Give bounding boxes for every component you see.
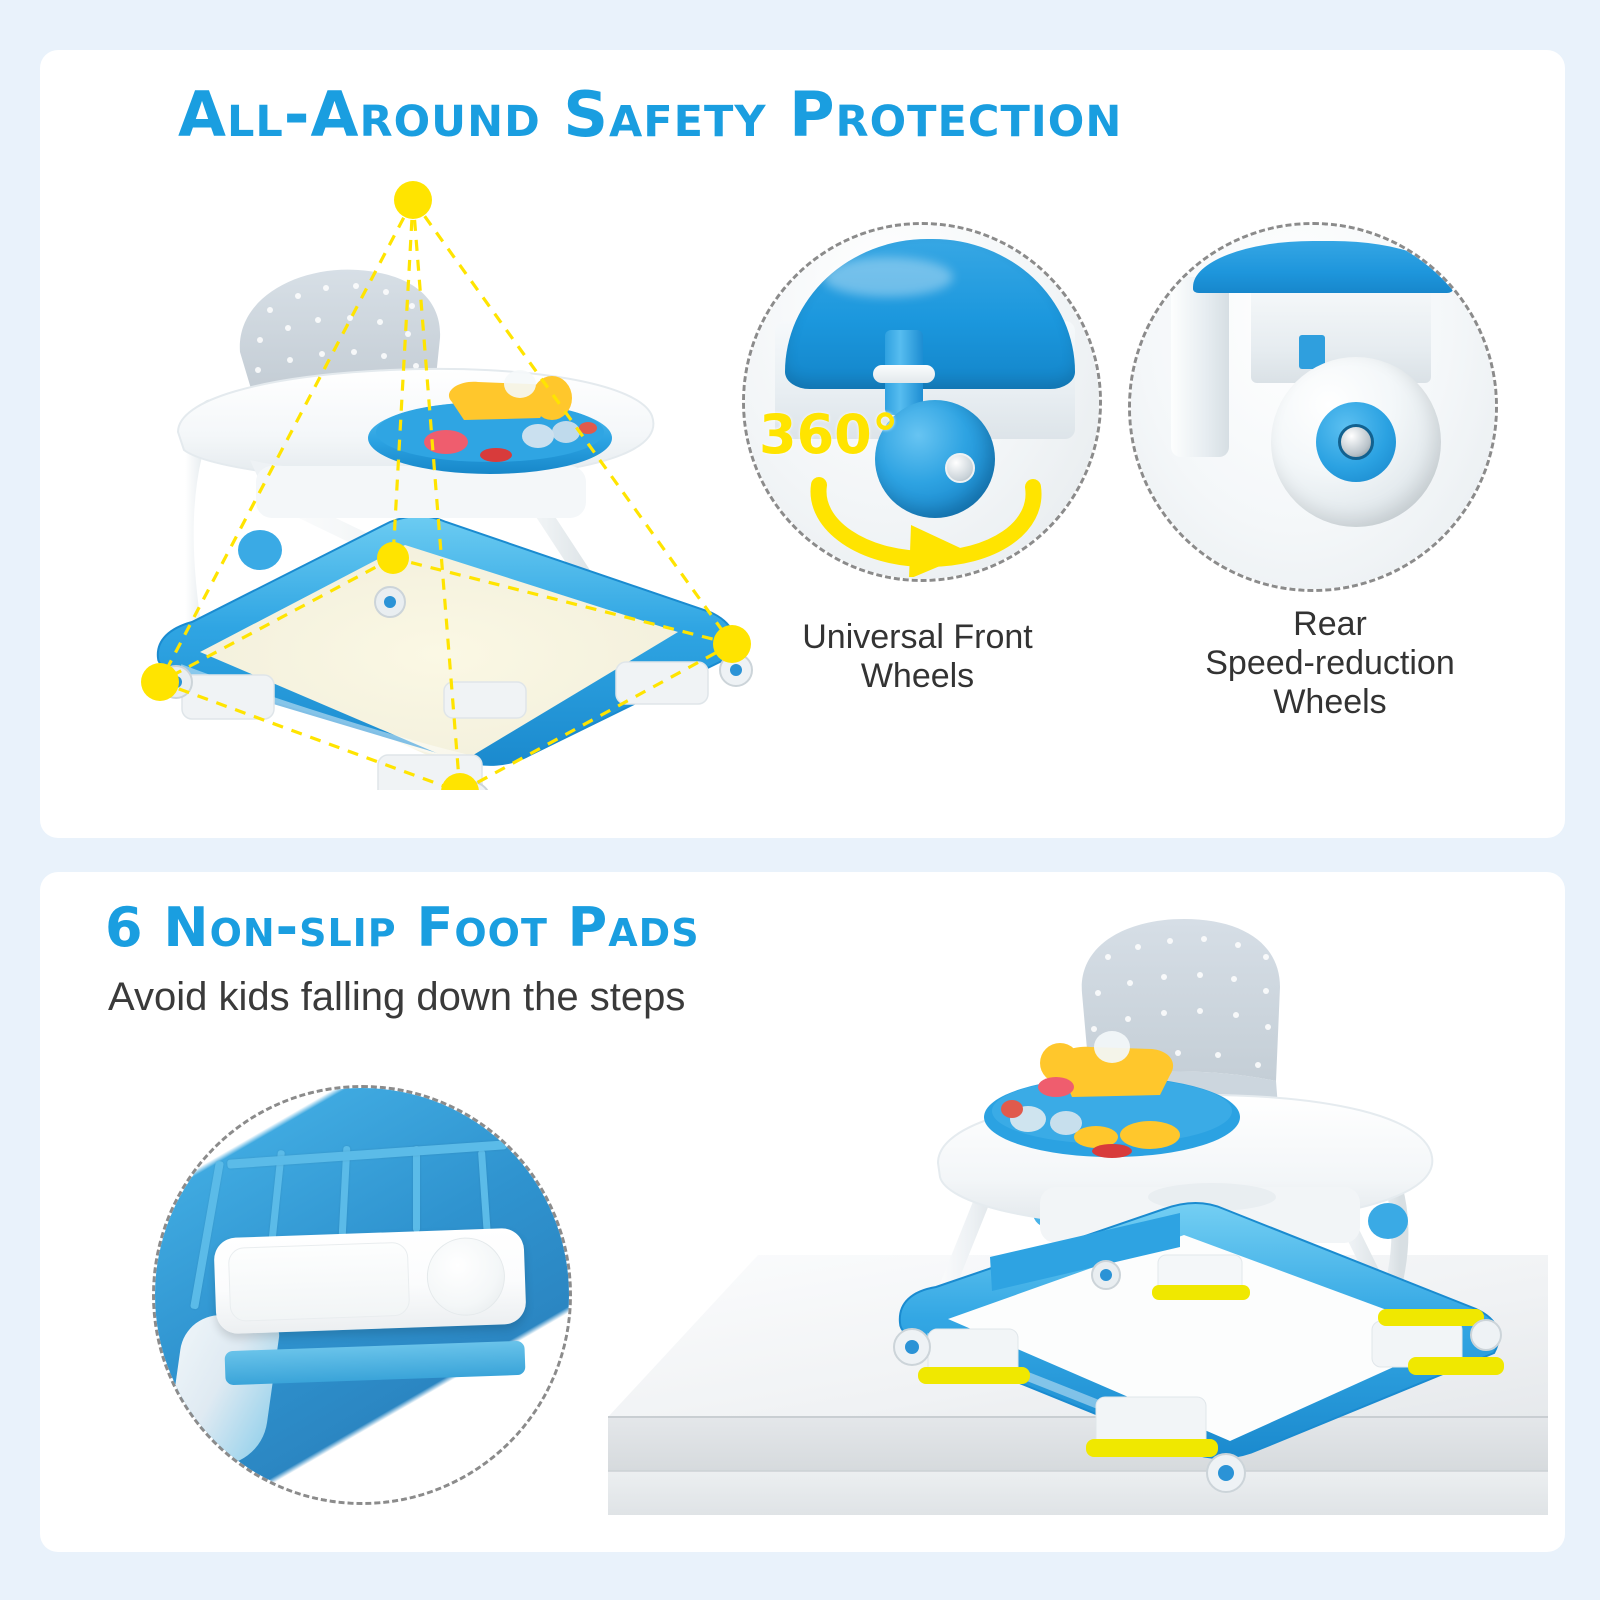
foot-pad-cup xyxy=(426,1236,507,1317)
caption-line: Rear xyxy=(1140,605,1520,644)
non-slip-foot-pad xyxy=(213,1228,526,1335)
walker-leg xyxy=(165,1310,281,1472)
rotation-degree-badge: 360° xyxy=(759,403,899,466)
inset-foot-pad-closeup xyxy=(152,1085,572,1505)
dome-gloss xyxy=(823,257,953,297)
frame-rail xyxy=(227,1140,507,1169)
frame-rib xyxy=(413,1146,420,1232)
walker-on-step-illustration xyxy=(760,905,1520,1525)
section-title-foot-pads: 6 Non-slip Foot Pads xyxy=(105,896,700,959)
inset-rear-wheels xyxy=(1128,222,1498,592)
caption-rear-wheels: Rear Speed-reduction Wheels xyxy=(1140,605,1520,722)
caption-line: Speed-reduction xyxy=(1140,644,1520,683)
frame-rib xyxy=(478,1150,491,1238)
caption-line: Wheels xyxy=(1140,683,1520,722)
rear-wheel-axle xyxy=(1338,424,1374,460)
rear-blue-cap xyxy=(1193,241,1453,293)
caption-line: Wheels xyxy=(745,657,1090,696)
inset-front-wheels: 360° xyxy=(742,222,1102,582)
rear-bracket xyxy=(1171,277,1229,457)
foot-pad-flat-face xyxy=(228,1242,410,1322)
caption-line: Universal Front xyxy=(745,618,1090,657)
section-subtitle-foot-pads: Avoid kids falling down the steps xyxy=(108,975,685,1020)
rotation-arrow-icon xyxy=(803,467,1053,577)
walker-main-illustration xyxy=(60,170,760,790)
front-wheel-collar xyxy=(873,365,935,383)
caption-front-wheels: Universal Front Wheels xyxy=(745,618,1090,696)
page-title: All-Around Safety Protection xyxy=(178,78,1122,151)
